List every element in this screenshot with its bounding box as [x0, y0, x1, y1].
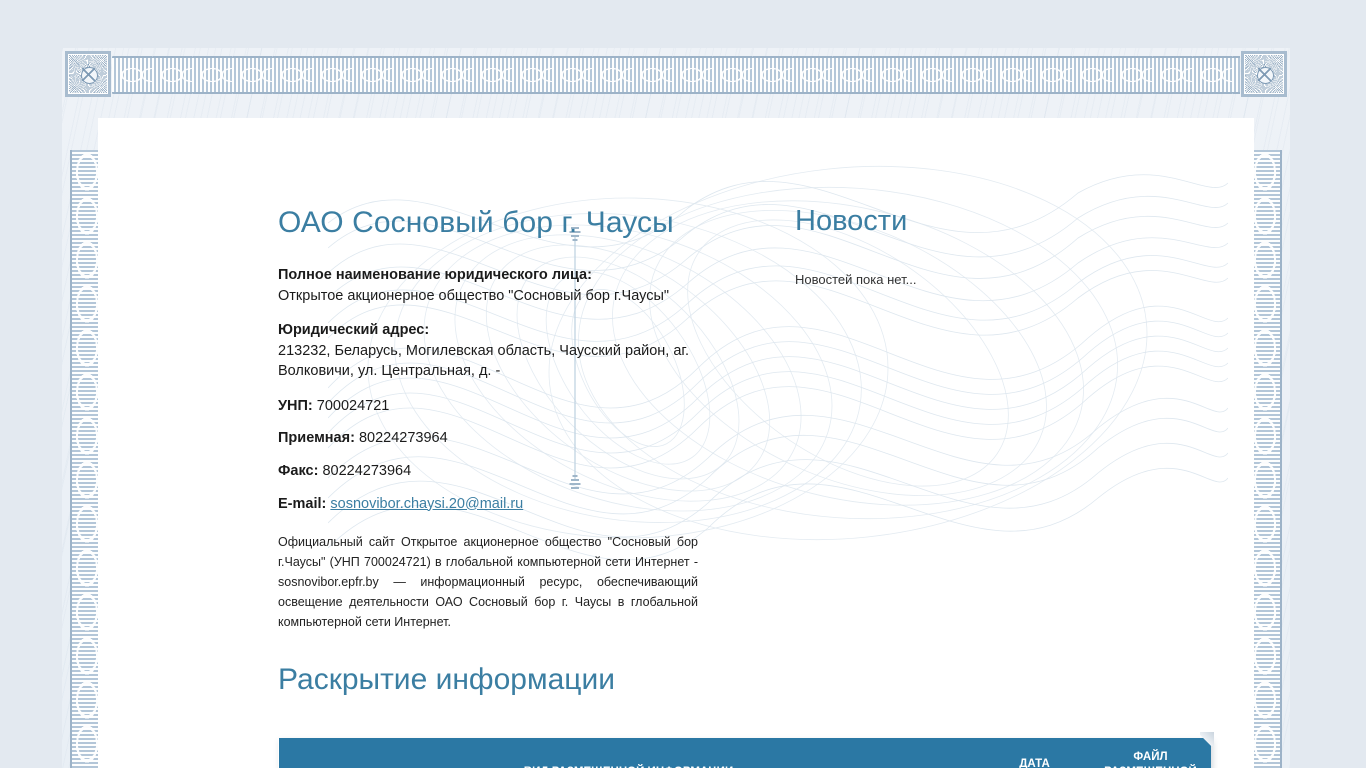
email-field: E-mail: sosnovibor.chaysi.20@mail.ru	[278, 494, 700, 515]
fax-label: Факс:	[278, 463, 318, 479]
full-name-label: Полное наименование юридического лица:	[278, 265, 700, 286]
unp-value: 700024721	[317, 398, 390, 414]
page-root: ОАО Сосновый бор г. Чаусы Полное наимено…	[0, 0, 1366, 768]
unp-label: УНП:	[278, 398, 313, 414]
disclosure-table: ВИД РАЗМЕЩЕННОЙ ИНФОРМАЦИИ ДАТА РАЗМЕЩЕН…	[278, 738, 1211, 768]
legal-address-value: 213232, Беларусь, Могилевская область, Ч…	[278, 343, 689, 380]
fax-value: 80224273964	[322, 463, 411, 479]
about-site-paragraph: Официальный сайт Открытое акционерное об…	[278, 532, 698, 632]
column-header-date: ДАТА РАЗМЕЩЕНИЯ	[979, 738, 1091, 768]
unp-field: УНП: 700024721	[278, 396, 700, 417]
decorative-security-frame: ОАО Сосновый бор г. Чаусы Полное наимено…	[62, 48, 1290, 768]
reception-phone-field: Приемная: 80224273964	[278, 428, 700, 449]
column-header-file: ФАЙЛ РАЗМЕЩЕННОЙ ИНФОРМАЦИИ	[1091, 738, 1211, 768]
reception-phone-value: 80224273964	[359, 430, 448, 446]
column-header-kind: ВИД РАЗМЕЩЕННОЙ ИНФОРМАЦИИ	[279, 738, 979, 768]
table-header-row: ВИД РАЗМЕЩЕННОЙ ИНФОРМАЦИИ ДАТА РАЗМЕЩЕН…	[279, 738, 1211, 768]
disclosure-section-heading: Раскрытие информации	[278, 663, 615, 697]
disclosure-table-wrapper: ВИД РАЗМЕЩЕННОЙ ИНФОРМАЦИИ ДАТА РАЗМЕЩЕН…	[278, 738, 1210, 768]
email-label: E-mail:	[278, 496, 326, 512]
fax-field: Факс: 80224273964	[278, 461, 700, 482]
email-link[interactable]: sosnovibor.chaysi.20@mail.ru	[330, 496, 523, 512]
frame-top-braid-band	[112, 56, 1240, 94]
news-column: Новости Новостей пока нет...	[795, 206, 1095, 287]
news-heading: Новости	[795, 206, 1095, 238]
full-name-value: Открытое акционерное общество "Сосновый …	[278, 288, 669, 304]
organization-info-column: ОАО Сосновый бор г. Чаусы Полное наимено…	[278, 206, 700, 632]
content-sheet: ОАО Сосновый бор г. Чаусы Полное наимено…	[98, 118, 1254, 768]
legal-address-label: Юридический адрес:	[278, 320, 700, 341]
page-title: ОАО Сосновый бор г. Чаусы	[278, 206, 700, 239]
rosette-ornament-icon-top-right	[1241, 51, 1287, 97]
rosette-ornament-icon-top-left	[65, 51, 111, 97]
legal-address-field: Юридический адрес: 213232, Беларусь, Мог…	[278, 320, 700, 382]
news-empty-message: Новостей пока нет...	[795, 272, 1095, 287]
full-name-field: Полное наименование юридического лица: О…	[278, 265, 700, 306]
reception-phone-label: Приемная:	[278, 430, 355, 446]
page-curl-decoration	[1200, 732, 1214, 746]
